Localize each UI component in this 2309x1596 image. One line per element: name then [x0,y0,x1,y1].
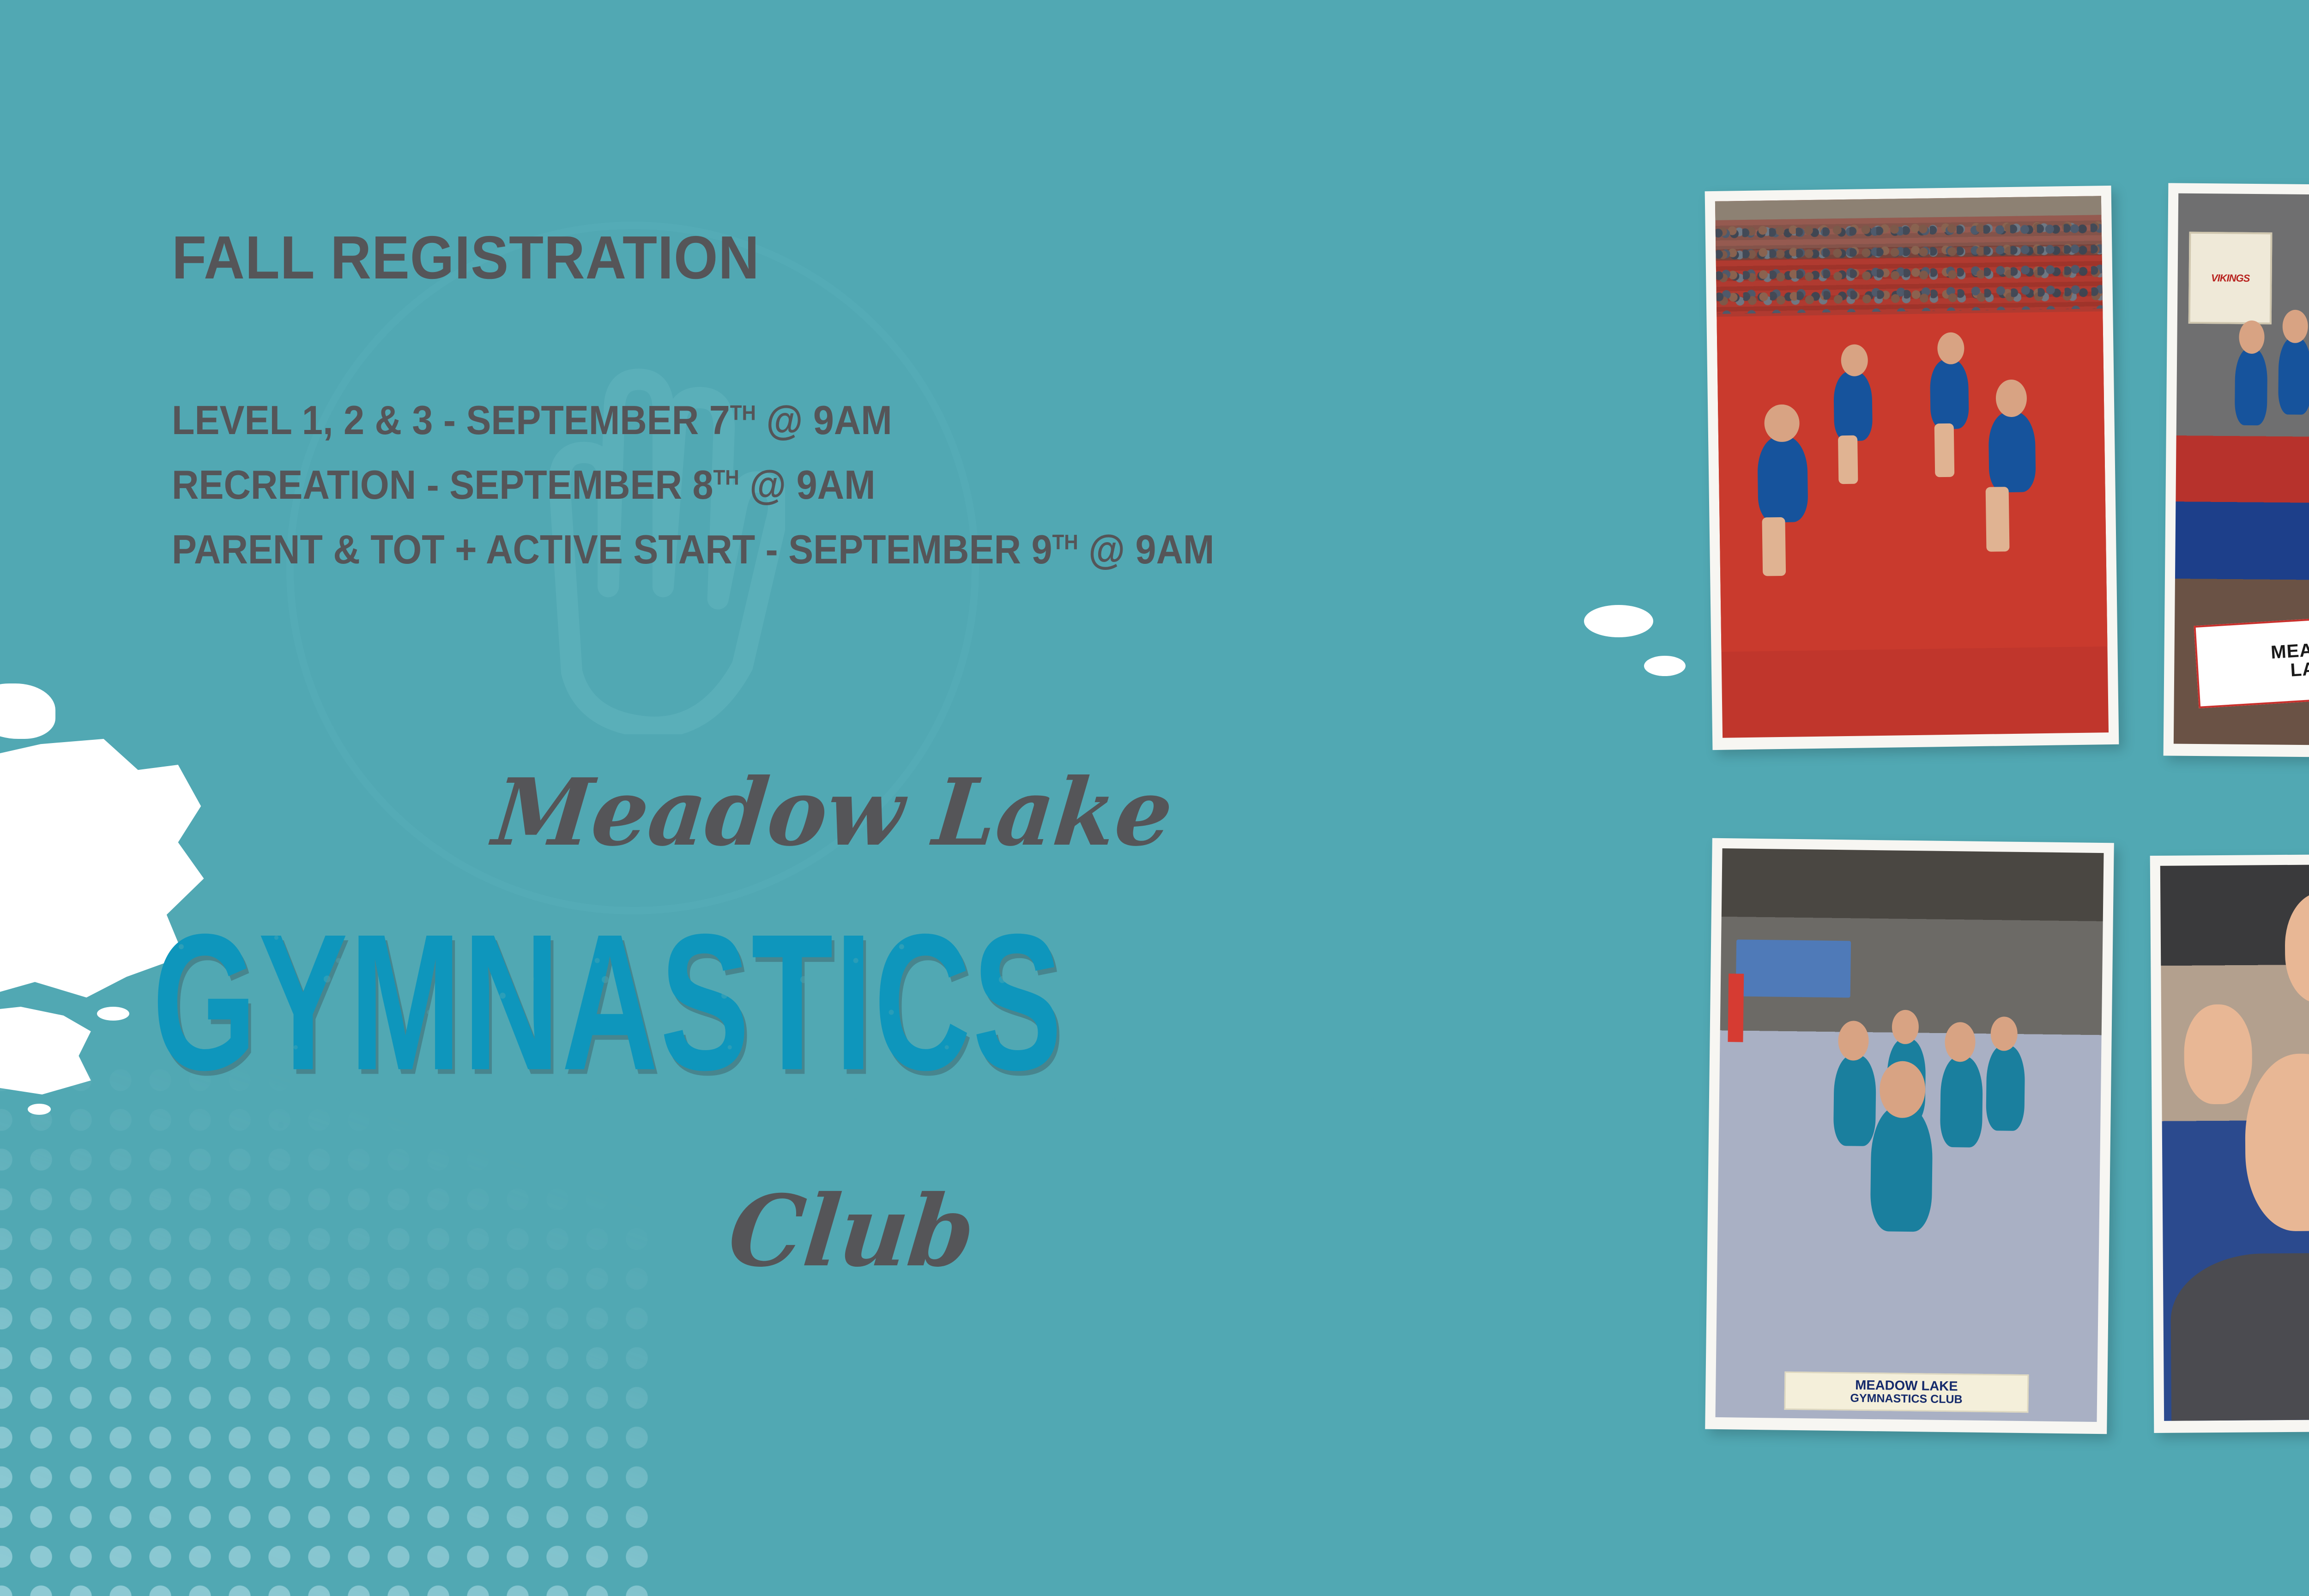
canada-flag [1728,973,1744,1042]
gymnast-figure [1940,1056,1983,1147]
gymnast-figure [1833,371,1873,441]
gymnast-face [2184,1004,2252,1104]
separator: - [433,397,466,443]
photo-card-grey-floor-team[interactable]: MEADOW LAKE GYMNASTICS CLUB [1705,838,2114,1434]
coach-shirt [2170,1253,2309,1421]
month-label: SEPTEMBER [449,462,682,508]
month-label: SEPTEMBER [788,526,1021,572]
photo-image-meadow-lake-sign-team: VIKINGS SaskTel SaskTel SaskTel MEADOW [2174,193,2309,747]
photo-caption-sign: MEADOW LAKE [2194,611,2309,708]
separator: - [416,462,449,508]
coach-face [2244,1053,2309,1232]
photo-collage: VIKINGS SaskTel SaskTel SaskTel MEADOW [1709,185,2309,1469]
gymnast-head [1838,1021,1869,1061]
program-label: PARENT & TOT + ACTIVE START [172,526,755,572]
gymnast-head [2239,320,2265,354]
gymnast-leg [1934,423,1954,478]
watermark-hand-icon [480,305,785,734]
gymnast-head [1764,404,1799,442]
gymnast-figure [1930,359,1970,429]
gymnast-figure [1986,1045,2025,1131]
gymnast-head [1937,332,1964,365]
gymnast-head [1995,380,2027,417]
photo-caption-banner: MEADOW LAKE GYMNASTICS CLUB [1784,1372,2029,1413]
gymnast-head [1991,1016,2018,1051]
gymnast-figure [1989,411,2036,493]
gymnast-leg [1838,435,1858,484]
gymnast-head [1945,1022,1976,1062]
logo-word-gymnastics: GYMNASTICS [152,905,1064,1100]
logo-script-club: Club [725,1182,979,1280]
gymnast-figure [1833,1055,1876,1146]
program-label: LEVEL 1, 2 & 3 [172,397,433,443]
gymnast-figure [2235,348,2268,425]
ordinal-suffix: TH [730,401,756,425]
gymnast-head [1892,1010,1919,1044]
logo-script-meadow-lake: Meadow Lake [489,767,1177,859]
program-label: RECREATION [172,462,416,508]
gymnast-figure [1870,1106,1933,1232]
sign-line-1: MEADOW [2270,638,2309,662]
paint-speck [1644,656,1686,676]
time-label: @ 9AM [739,462,876,508]
photo-image-red-floor-competition [1715,196,2109,738]
month-label: SEPTEMBER [466,397,699,443]
day-number: 7 [709,397,730,443]
time-label: @ 9AM [1078,526,1215,572]
day-number: 8 [693,462,713,508]
schedule-line-level123: LEVEL 1, 2 & 3 - SEPTEMBER 7TH @ 9AM [172,400,892,441]
photo-card-red-floor-competition[interactable] [1705,186,2119,750]
photo-image-coach-team-selfie [2160,863,2309,1421]
separator: - [755,526,788,572]
day-number: 9 [1031,526,1052,572]
photo-image-grey-floor-team: MEADOW LAKE GYMNASTICS CLUB [1716,848,2104,1422]
gymnast-leg [1762,517,1786,576]
schedule-line-parent-tot: PARENT & TOT + ACTIVE START - SEPTEMBER … [172,529,1214,570]
time-label: @ 9AM [756,397,892,443]
ordinal-suffix: TH [713,466,739,490]
ordinal-suffix: TH [1052,531,1078,554]
crowd-spectators [1716,218,2103,314]
sign-line-2: LAKE [2290,658,2309,680]
poster-canvas: FALL REGISTRATION LEVEL 1, 2 & 3 - SEPTE… [0,0,2309,1596]
gymnast-head [2282,310,2308,343]
equipment-mat [1736,939,1851,997]
gymnast-leg [1985,487,2009,552]
gymnast-figure [1757,436,1808,522]
left-text-column: FALL REGISTRATION LEVEL 1, 2 & 3 - SEPTE… [0,0,1644,1596]
photo-card-meadow-lake-sign-team[interactable]: VIKINGS SaskTel SaskTel SaskTel MEADOW [2164,183,2309,759]
vikings-wall-logo: VIKINGS [2188,232,2273,324]
page-title: FALL REGISTRATION [172,227,760,288]
gymnast-head [1841,344,1868,377]
photo-card-coach-team-selfie[interactable] [2150,853,2309,1433]
gymnast-face [2285,892,2309,1004]
gymnast-figure [2278,337,2309,414]
caption-line-2: GYMNASTICS CLUB [1789,1391,2025,1406]
schedule-line-recreation: RECREATION - SEPTEMBER 8TH @ 9AM [172,465,876,505]
